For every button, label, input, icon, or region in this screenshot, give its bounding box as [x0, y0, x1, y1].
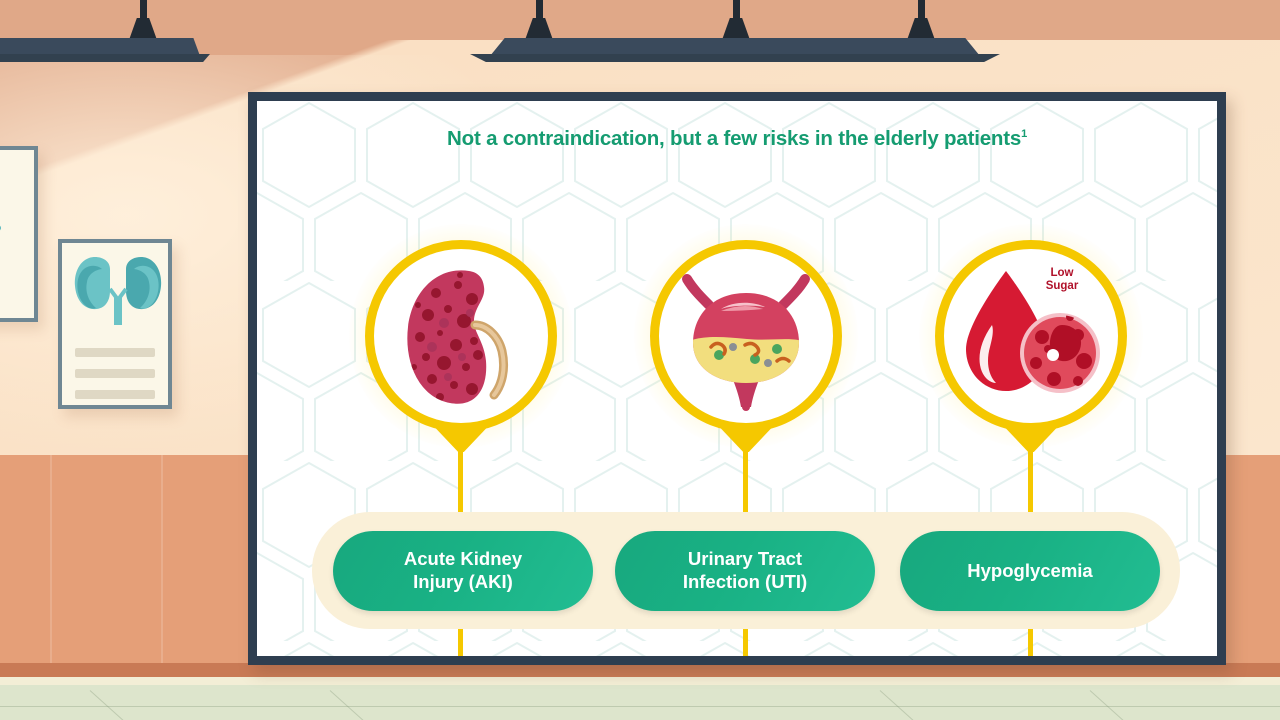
low-sugar-annotation: Low Sugar: [1032, 267, 1092, 292]
page-title: Not a contraindication, but a few risks …: [257, 127, 1217, 151]
low-sugar-line-1: Low: [1032, 267, 1092, 280]
kidney-icon: [374, 249, 548, 423]
slide-canvas: Not a contraindication, but a few risks …: [257, 101, 1217, 656]
label-line-2: Infection (UTI): [683, 571, 807, 594]
label-line-1: Hypoglycemia: [967, 560, 1092, 583]
label-acute-kidney-injury[interactable]: Acute Kidney Injury (AKI): [333, 531, 593, 611]
label-line-1: Urinary Tract: [683, 548, 807, 571]
bladder-icon: [659, 249, 833, 423]
label-urinary-tract-infection[interactable]: Urinary Tract Infection (UTI): [615, 531, 875, 611]
pin-illustration: Low Sugar: [944, 249, 1118, 423]
teal-shape-icon: [0, 176, 32, 266]
wall-baseboard: [0, 663, 1280, 677]
floor-highlight: [0, 677, 1280, 685]
label-hypoglycemia[interactable]: Hypoglycemia: [900, 531, 1160, 611]
kidneys-icon: [72, 255, 164, 329]
label-line-2: Injury (AKI): [404, 571, 522, 594]
page-title-superscript: 1: [1021, 128, 1027, 140]
pin-illustration: [659, 249, 833, 423]
presentation-board: Not a contraindication, but a few risks …: [248, 92, 1226, 665]
page-title-text: Not a contraindication, but a few risks …: [447, 127, 1021, 150]
kidney-anatomy-poster: [58, 239, 172, 409]
low-sugar-line-2: Sugar: [1032, 280, 1092, 293]
pin-illustration: [374, 249, 548, 423]
label-line-1: Acute Kidney: [404, 548, 522, 571]
partial-poster: [0, 146, 38, 322]
clinic-room-scene: Not a contraindication, but a few risks …: [0, 0, 1280, 720]
